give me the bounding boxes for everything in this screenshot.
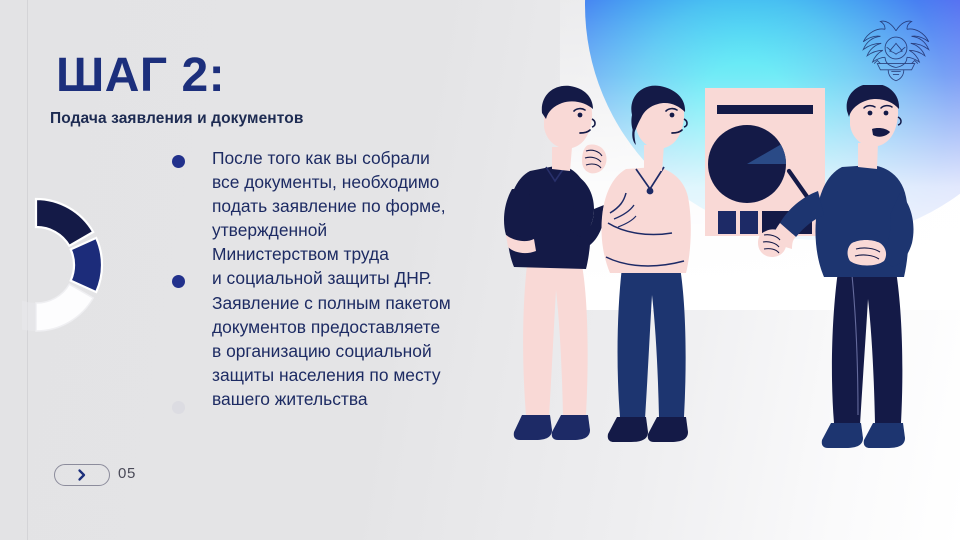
three-people-presentation-illustration xyxy=(500,85,960,480)
list-item xyxy=(172,353,522,379)
bullet-dot-faded-icon xyxy=(172,401,185,414)
list-item: и социальной защиты ДНР. Заявление с пол… xyxy=(172,266,522,411)
next-slide-button[interactable] xyxy=(54,464,110,486)
person-arms-crossed xyxy=(601,86,690,442)
bullet-text: и социальной защиты ДНР. Заявление с пол… xyxy=(212,266,522,411)
bullet-text: После того как вы собрали все документы,… xyxy=(212,146,522,266)
donut-chart-decoration xyxy=(22,186,142,344)
list-item: После того как вы собрали все документы,… xyxy=(172,146,522,266)
bullet-dot-icon xyxy=(172,155,185,168)
bullet-list: После того как вы собрали все документы,… xyxy=(172,146,522,379)
pie-chart-on-poster xyxy=(708,125,786,203)
bullet-dot-icon xyxy=(172,275,185,288)
page-subtitle: Подача заявления и документов xyxy=(50,110,303,128)
chevron-right-icon xyxy=(75,468,89,482)
person-thinking xyxy=(504,86,607,440)
double-headed-eagle-emblem xyxy=(857,8,935,88)
slide: ШАГ 2: Подача заявления и документов Пос… xyxy=(0,0,960,540)
page-number: 05 xyxy=(118,465,136,482)
page-title: ШАГ 2: xyxy=(56,52,225,100)
